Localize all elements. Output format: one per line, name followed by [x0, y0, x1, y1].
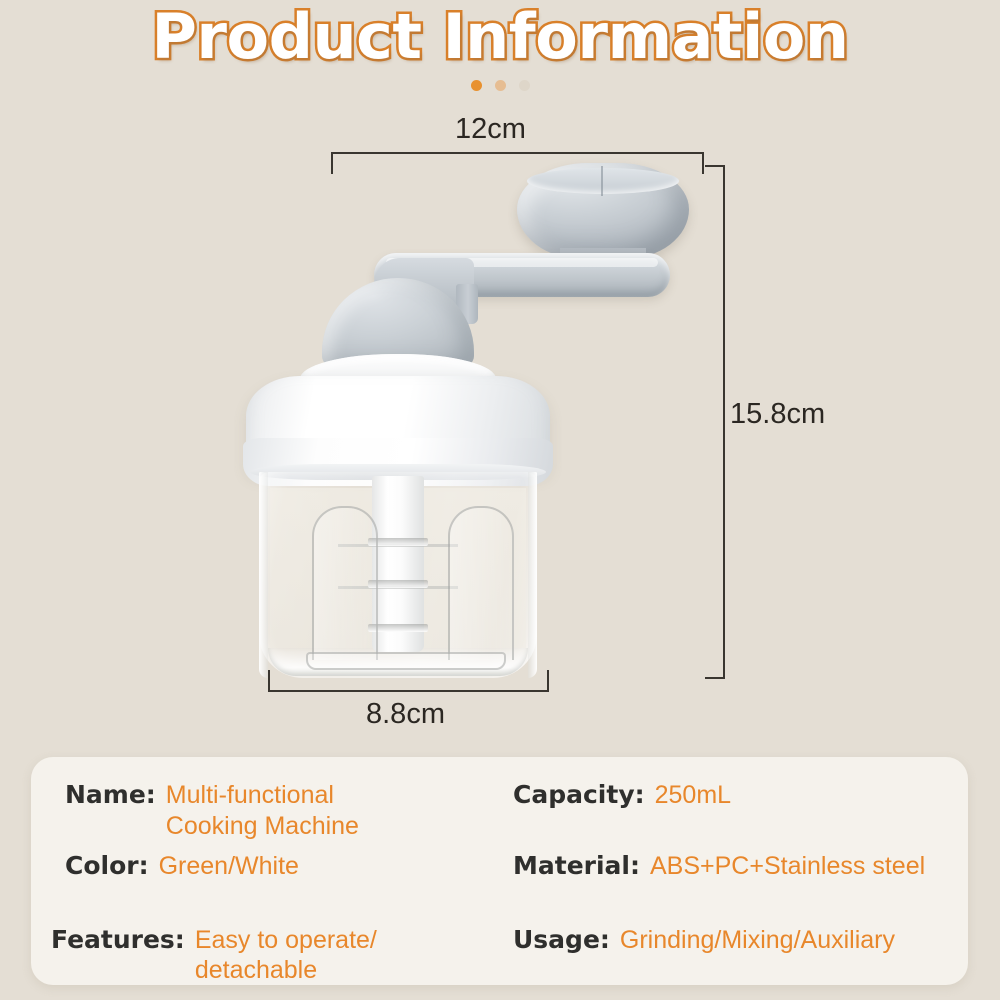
info-value-name: Multi-functional Cooking Machine — [166, 780, 359, 842]
info-value-capacity: 250mL — [655, 780, 731, 811]
info-label-capacity: Capacity: — [513, 779, 645, 810]
info-row-usage: Usage: Grinding/Mixing/Auxiliary — [499, 914, 968, 956]
info-row-color: Color: Green/White — [31, 842, 499, 882]
carousel-dots — [0, 80, 1000, 91]
carousel-dot-faint[interactable] — [519, 80, 530, 91]
carousel-dot-active[interactable] — [471, 80, 482, 91]
product-diagram: 12cm 15.8cm 8.8cm — [0, 108, 1000, 748]
info-value-color: Green/White — [159, 851, 299, 882]
product-info-grid: Name: Multi-functional Cooking Machine C… — [31, 757, 968, 985]
info-value-features: Easy to operate/ detachable — [195, 925, 377, 985]
info-row-material: Material: ABS+PC+Stainless steel — [499, 842, 968, 882]
info-value-material: ABS+PC+Stainless steel — [650, 851, 925, 882]
blade-guard-right — [448, 506, 514, 660]
info-label-usage: Usage: — [513, 924, 610, 955]
info-row-name: Name: Multi-functional Cooking Machine — [31, 757, 499, 842]
crank-knob-rim — [527, 168, 679, 194]
bowl-edge-left — [259, 472, 268, 678]
page-title: Product Information — [0, 2, 1000, 72]
info-label-material: Material: — [513, 850, 640, 881]
page-header: Product Information — [0, 0, 1000, 108]
crank-knob-seam — [601, 166, 603, 196]
info-label-features: Features: — [51, 924, 185, 955]
bowl-edge-right — [528, 472, 537, 678]
product-info-card: Name: Multi-functional Cooking Machine C… — [31, 757, 968, 985]
info-label-color: Color: — [65, 850, 149, 881]
product-image — [0, 108, 1000, 748]
blade-guard-left — [312, 506, 378, 660]
blade-guard-base — [306, 652, 506, 670]
info-row-features: Features: Easy to operate/ detachable — [31, 914, 499, 985]
info-row-capacity: Capacity: 250mL — [499, 757, 968, 811]
info-label-name: Name: — [65, 779, 156, 810]
carousel-dot-mid[interactable] — [495, 80, 506, 91]
info-value-usage: Grinding/Mixing/Auxiliary — [620, 925, 895, 956]
